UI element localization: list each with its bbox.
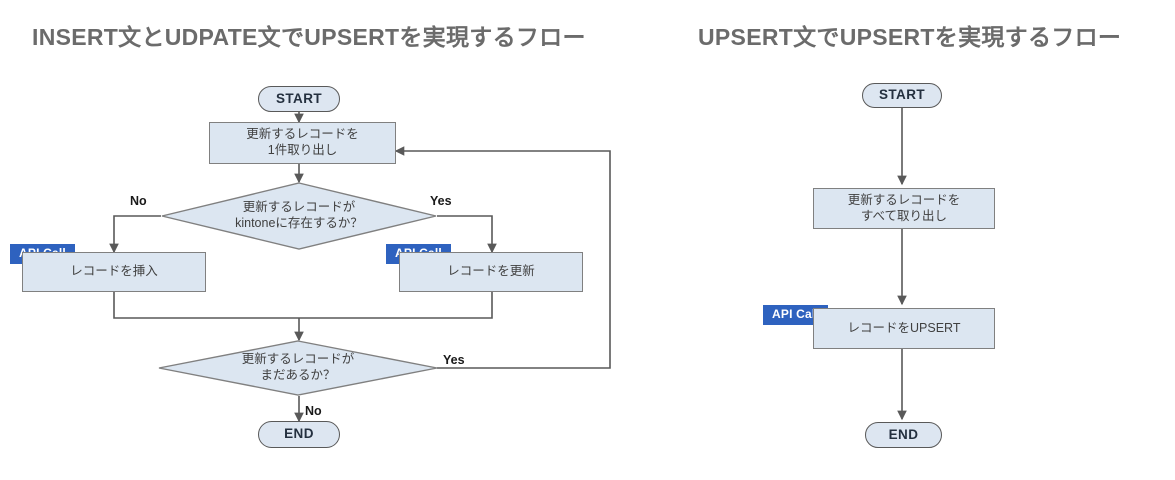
edge-insert-to-join xyxy=(114,292,299,318)
left-fetch-one-box[interactable]: 更新するレコードを 1件取り出し xyxy=(209,122,396,164)
left-branch-label-no: No xyxy=(130,194,147,208)
right-flow-title: UPSERT文でUPSERTを実現するフロー xyxy=(698,18,1121,52)
left-branch-label-yes: Yes xyxy=(430,194,452,208)
right-upsert-box[interactable]: レコードをUPSERT xyxy=(813,308,995,349)
left-flow-title: INSERT文とUDPATE文でUPSERTを実現するフロー xyxy=(32,18,586,52)
flowchart-canvas: INSERT文とUDPATE文でUPSERTを実現するフロー UPSERT文でU… xyxy=(0,0,1175,480)
left-fetch-one-line2: 1件取り出し xyxy=(268,143,337,157)
edge-update-to-join xyxy=(299,292,492,318)
left-fetch-one-line1: 更新するレコードを xyxy=(246,127,359,141)
left-insert-label: レコードを挿入 xyxy=(70,264,158,280)
left-decision-more-line2: まだあるか？ xyxy=(260,368,335,382)
left-start-node[interactable]: START xyxy=(258,86,340,112)
right-upsert-label: レコードをUPSERT xyxy=(848,321,961,337)
right-fetch-all-line1: 更新するレコードを xyxy=(848,193,961,207)
left-update-label: レコードを更新 xyxy=(447,264,535,280)
left-end-node[interactable]: END xyxy=(258,421,340,448)
left-decision-exists-line1: 更新するレコードが xyxy=(243,200,356,214)
left-insert-box[interactable]: レコードを挿入 xyxy=(22,252,206,292)
left-branch-label-more-no: No xyxy=(305,404,322,418)
right-fetch-all-box[interactable]: 更新するレコードを すべて取り出し xyxy=(813,188,995,229)
left-decision-more[interactable]: 更新するレコードが まだあるか？ xyxy=(158,340,438,396)
left-decision-exists-label: 更新するレコードが kintoneに存在するか？ xyxy=(161,182,437,250)
left-branch-label-more-yes: Yes xyxy=(443,353,465,367)
right-end-node[interactable]: END xyxy=(865,422,942,448)
left-update-box[interactable]: レコードを更新 xyxy=(399,252,583,292)
left-decision-exists-line2: kintoneに存在するか？ xyxy=(235,216,363,230)
right-start-node[interactable]: START xyxy=(862,83,942,108)
left-decision-exists[interactable]: 更新するレコードが kintoneに存在するか？ xyxy=(161,182,437,250)
right-fetch-all-line2: すべて取り出し xyxy=(861,209,947,223)
left-decision-more-label: 更新するレコードが まだあるか？ xyxy=(158,340,438,396)
edge-decision-no-to-insert xyxy=(114,216,161,252)
left-decision-more-line1: 更新するレコードが xyxy=(242,352,355,366)
